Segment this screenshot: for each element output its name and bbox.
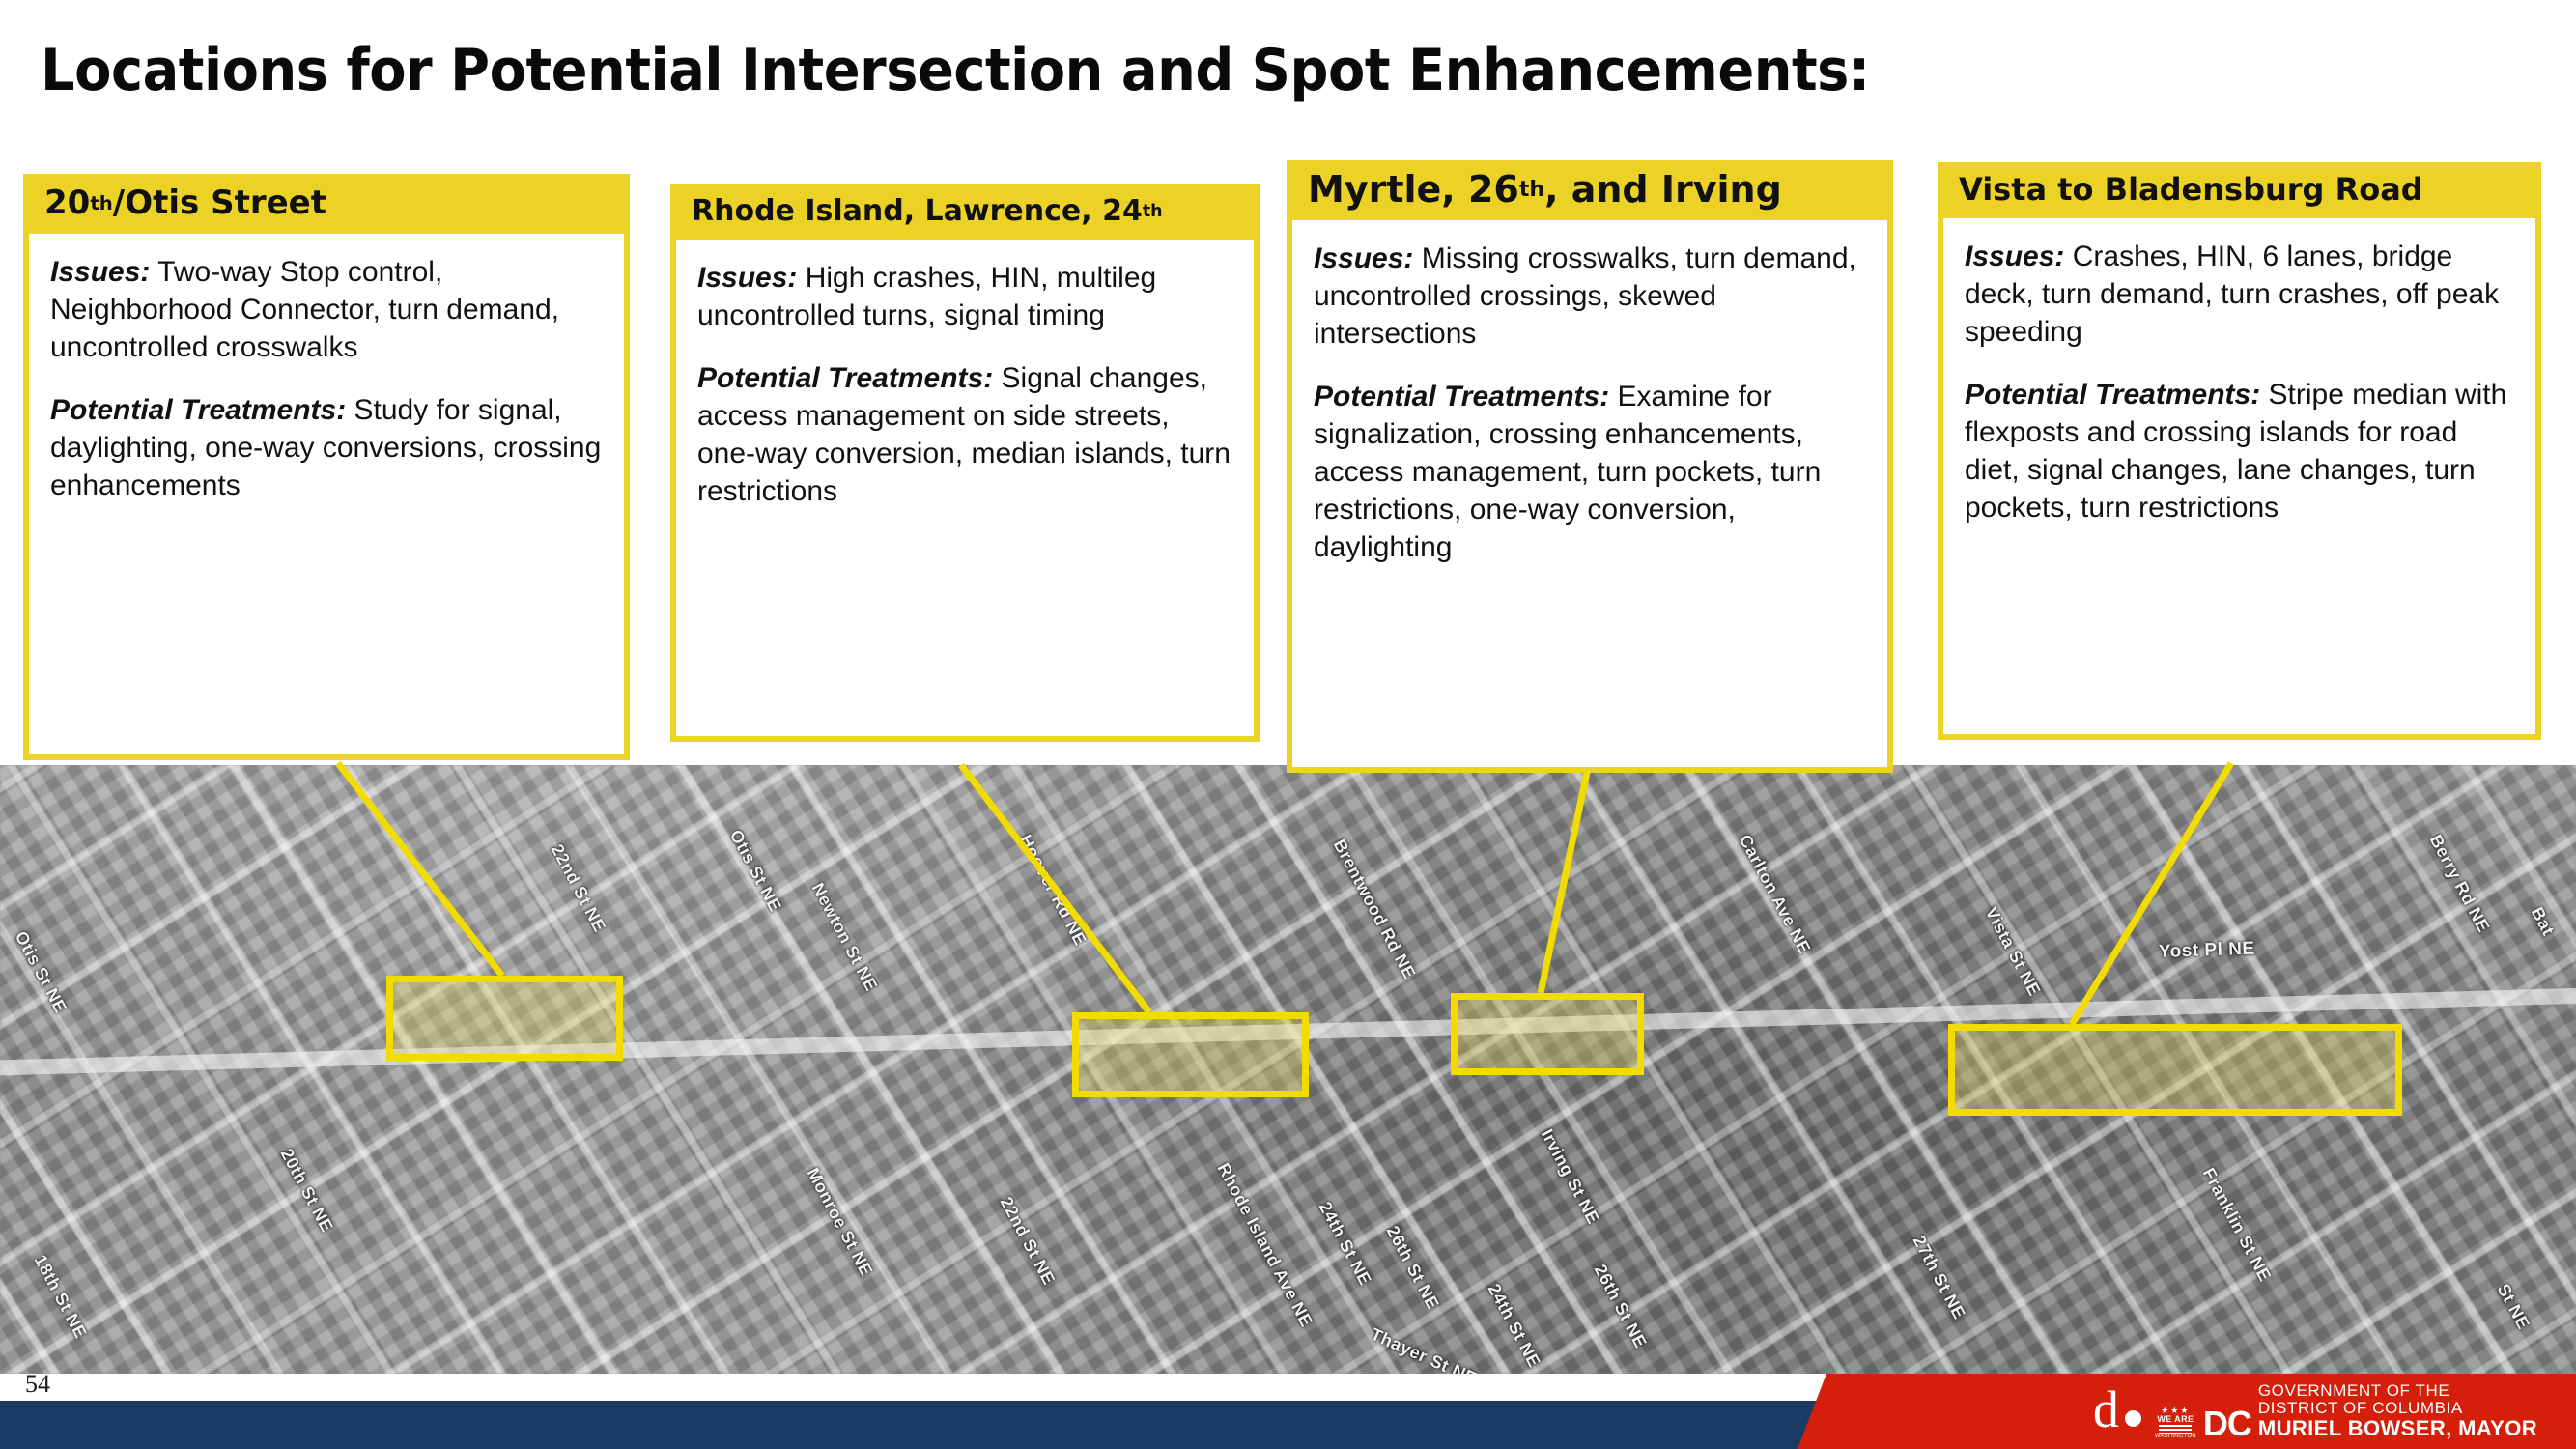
treatments-paragraph: Potential Treatments: Examine for signal… [1314, 378, 1866, 566]
we-are-washington-badge-icon: ★★★ WE ARE WASHINGTON [2155, 1406, 2196, 1439]
callout-body: Issues: Missing crosswalks, turn demand,… [1287, 220, 1893, 773]
dc-government-logo: d ★★★ WE ARE WASHINGTON DC GOVERNMENT OF… [2093, 1382, 2537, 1439]
we-are-label: WE ARE [2157, 1415, 2194, 1424]
treatments-paragraph: Potential Treatments: Study for signal, … [50, 391, 603, 504]
slide-footer: d ★★★ WE ARE WASHINGTON DC GOVERNMENT OF… [0, 1374, 2576, 1449]
issues-paragraph: Issues: Crashes, HIN, 6 lanes, bridge de… [1965, 238, 2514, 351]
slide-root: Locations for Potential Intersection and… [0, 0, 2576, 1449]
callout-card-20th-otis[interactable]: 20th/Otis Street Issues: Two-way Stop co… [23, 174, 630, 760]
callout-title-main: Rhode Island, Lawrence, 24 [692, 196, 1143, 227]
callout-title-main: 20 [44, 186, 90, 221]
dc-mark-letter: d [2093, 1388, 2119, 1433]
mayor-line: MURIEL BOWSER, MAYOR [2258, 1417, 2537, 1439]
callout-title-rest: , and Irving [1544, 171, 1782, 210]
treatments-paragraph: Potential Treatments: Stripe median with… [1965, 376, 2514, 526]
treatments-label: Potential Treatments: [50, 394, 346, 426]
issues-paragraph: Issues: Missing crosswalks, turn demand,… [1314, 240, 1866, 353]
district-of-columbia-line: DISTRICT OF COLUMBIA [2258, 1400, 2537, 1417]
dc-wordmark: ★★★ WE ARE WASHINGTON DC GOVERNMENT OF T… [2155, 1382, 2537, 1439]
aerial-map[interactable]: South Dakota Ave NESouth Dakota Ave NESo… [0, 765, 2576, 1374]
dc-d-mark-icon: d [2093, 1388, 2141, 1433]
treatments-paragraph: Potential Treatments: Signal changes, ac… [697, 359, 1232, 510]
dc-letters: DC [2203, 1408, 2251, 1439]
callout-body: Issues: Crashes, HIN, 6 lanes, bridge de… [1938, 218, 2541, 740]
page-title: Locations for Potential Intersection and… [41, 37, 1870, 104]
treatments-label: Potential Treatments: [1314, 381, 1609, 412]
map-study-area-box[interactable] [1948, 1024, 2402, 1116]
issues-label: Issues: [697, 262, 797, 294]
callout-body: Issues: High crashes, HIN, multileg unco… [670, 240, 1260, 742]
treatments-label: Potential Treatments: [1965, 379, 2260, 411]
callout-header: Rhode Island, Lawrence, 24th [670, 184, 1260, 240]
callout-body: Issues: Two-way Stop control, Neighborho… [23, 234, 630, 760]
issues-paragraph: Issues: High crashes, HIN, multileg unco… [697, 259, 1232, 334]
dc-mark-dot-icon [2125, 1410, 2141, 1427]
callout-card-vista-to-bladensburg[interactable]: Vista to Bladensburg Road Issues: Crashe… [1938, 162, 2541, 740]
page-number: 54 [25, 1374, 50, 1399]
map-study-area-box[interactable] [1451, 993, 1644, 1075]
issues-label: Issues: [50, 256, 150, 288]
issues-label: Issues: [1965, 241, 2064, 272]
map-study-area-box[interactable] [386, 976, 623, 1061]
callout-header: Myrtle, 26th, and Irving [1287, 160, 1893, 220]
issues-label: Issues: [1314, 242, 1413, 274]
callout-title-main: Myrtle, 26 [1308, 171, 1519, 210]
washington-label: WASHINGTON [2155, 1434, 2196, 1439]
treatments-label: Potential Treatments: [697, 362, 993, 394]
callout-header: Vista to Bladensburg Road [1938, 162, 2541, 218]
issues-paragraph: Issues: Two-way Stop control, Neighborho… [50, 253, 603, 366]
map-study-area-box[interactable] [1072, 1012, 1309, 1097]
callout-header: 20th/Otis Street [23, 174, 630, 234]
government-of-the-line: GOVERNMENT OF THE [2258, 1382, 2537, 1400]
callout-title-rest: /Otis Street [113, 186, 326, 221]
flag-bars-icon [2159, 1425, 2192, 1434]
callout-title-main: Vista to Bladensburg Road [1959, 174, 2423, 207]
callout-card-rhode-island-lawrence-24th[interactable]: Rhode Island, Lawrence, 24th Issues: Hig… [670, 184, 1260, 742]
dc-agency-lines: GOVERNMENT OF THE DISTRICT OF COLUMBIA M… [2258, 1382, 2537, 1439]
callout-card-myrtle-26th-irving[interactable]: Myrtle, 26th, and Irving Issues: Missing… [1287, 160, 1893, 773]
